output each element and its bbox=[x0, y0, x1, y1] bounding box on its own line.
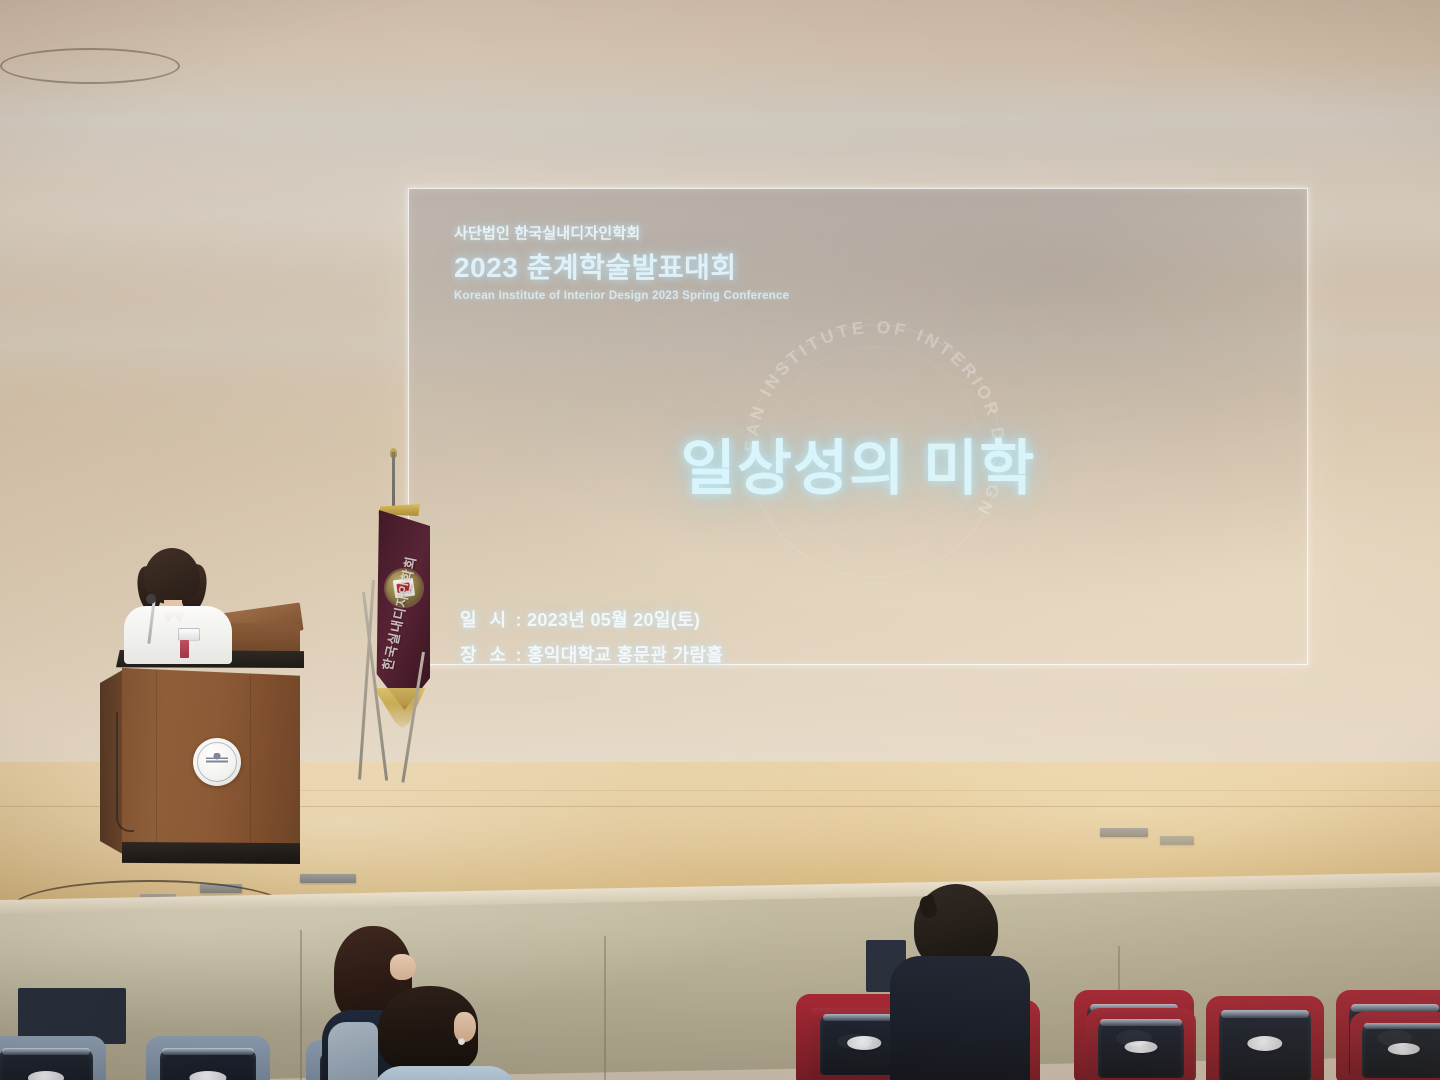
info-sep: : bbox=[515, 610, 521, 630]
audience-face bbox=[390, 954, 416, 980]
audience-member-seated bbox=[890, 884, 1030, 1080]
audience-member-seated bbox=[372, 986, 512, 1080]
info-label-venue: 장 소 bbox=[460, 645, 510, 665]
podium-university-seal bbox=[193, 738, 241, 786]
podium-wood-grain bbox=[250, 664, 251, 859]
floor-outlet-plate bbox=[300, 874, 356, 883]
floor-outlet-plate bbox=[1160, 836, 1194, 845]
floor-seam bbox=[280, 790, 1440, 791]
flag-fringe bbox=[372, 688, 430, 728]
ceremonial-flag-stand: 한국실내디자인학회 bbox=[336, 452, 446, 782]
stage-panel-seam bbox=[604, 936, 606, 1080]
info-value-date: 2023년 05월 20일(토) bbox=[527, 610, 700, 630]
seat-number-plate bbox=[28, 1071, 64, 1080]
seat-highlight bbox=[1364, 1023, 1440, 1029]
gooseneck-microphone-head bbox=[146, 594, 156, 604]
seat-highlight bbox=[2, 1048, 91, 1055]
presenter-ribbon bbox=[180, 640, 189, 658]
theater-seat[interactable] bbox=[0, 1036, 106, 1080]
seat-number-plate bbox=[189, 1071, 226, 1080]
seat-number-plate bbox=[1125, 1041, 1158, 1054]
podium-wood-grain bbox=[156, 664, 157, 859]
audience-torso bbox=[372, 1066, 518, 1080]
theater-seat[interactable] bbox=[146, 1036, 270, 1080]
slide-info-block: 일 시 : 2023년 05월 20일(토) 장 소 : 홍익대학교 홍문관 가… bbox=[460, 606, 723, 676]
info-value-venue: 홍익대학교 홍문관 가람홀 bbox=[527, 645, 723, 665]
presenter bbox=[120, 548, 230, 663]
seat-highlight bbox=[1100, 1019, 1181, 1026]
audience-face bbox=[454, 1012, 476, 1042]
organization-name: 사단법인 한국실내디자인학회 bbox=[454, 222, 789, 243]
audience-earring bbox=[458, 1038, 465, 1045]
floor-outlet-plate bbox=[1100, 828, 1148, 837]
theater-seat[interactable] bbox=[1086, 1008, 1196, 1080]
seat-highlight bbox=[1221, 1010, 1308, 1018]
conference-title: 2023 춘계학술발표대회 bbox=[454, 246, 789, 286]
seal-ring bbox=[197, 742, 237, 782]
slide-info-row-venue: 장 소 : 홍익대학교 홍문관 가람홀 bbox=[460, 641, 723, 667]
seat-highlight bbox=[162, 1048, 254, 1055]
slide-main-title: 일상성의 미학 bbox=[408, 420, 1308, 507]
theater-seat[interactable] bbox=[1206, 996, 1324, 1080]
slide-header-block: 사단법인 한국실내디자인학회 2023 춘계학술발표대회 Korean Inst… bbox=[454, 222, 789, 302]
conference-title-en: Korean Institute of Interior Design 2023… bbox=[454, 290, 789, 302]
stage-panel-seam bbox=[300, 930, 302, 1080]
projection-screen: KOREAN INSTITUTE OF INTERIOR DESIGN 사단법인… bbox=[408, 188, 1308, 665]
seat-highlight bbox=[1351, 1004, 1438, 1012]
conference-photo-scene: KOREAN INSTITUTE OF INTERIOR DESIGN 사단법인… bbox=[0, 0, 1440, 1080]
seat-number-plate bbox=[1388, 1043, 1420, 1055]
theater-seat[interactable] bbox=[1350, 1012, 1440, 1080]
audience-backpack bbox=[328, 1022, 378, 1080]
seat-number-plate bbox=[847, 1036, 881, 1049]
podium-power-cord bbox=[116, 712, 134, 832]
info-sep: : bbox=[515, 645, 521, 665]
slide-info-row-date: 일 시 : 2023년 05월 20일(토) bbox=[460, 606, 723, 632]
info-label-date: 일 시 bbox=[460, 610, 510, 630]
wall-tone-band bbox=[0, 60, 1440, 180]
stage-cable-loop bbox=[0, 48, 180, 84]
podium-base bbox=[122, 842, 300, 864]
audience-torso bbox=[890, 956, 1030, 1080]
